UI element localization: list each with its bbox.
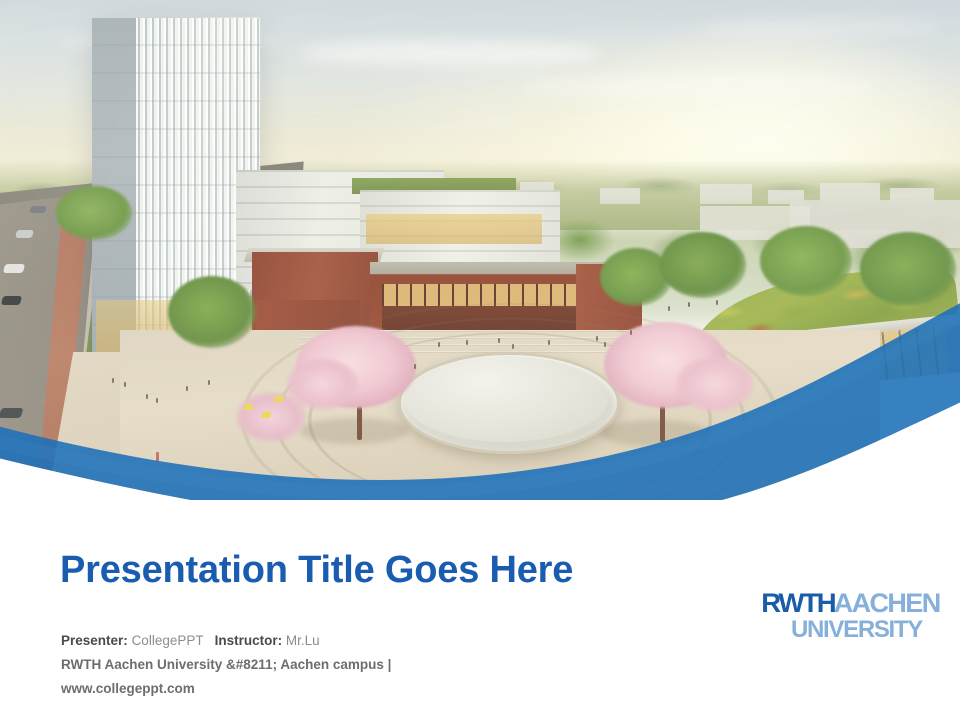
presentation-slide: Presentation Title Goes Here Presenter: …	[0, 0, 960, 720]
rwth-aachen-university-logo: RWTHAACHEN UNIVERSITY	[762, 590, 922, 642]
logo-row-primary: RWTHAACHEN	[762, 590, 922, 617]
presenter-value: CollegePPT	[132, 633, 204, 648]
hero-campus-photo	[0, 0, 960, 500]
logo-aachen-text: AACHEN	[834, 590, 940, 617]
logo-university-text: UNIVERSITY	[762, 618, 922, 642]
campus-illustration	[0, 0, 960, 500]
affiliation-line: RWTH Aachen University &#8211; Aachen ca…	[61, 654, 391, 675]
slide-byline: Presenter: CollegePPT Instructor: Mr.Lu …	[61, 630, 391, 699]
website-line: www.collegeppt.com	[61, 678, 391, 699]
photo-warm-overlay	[0, 0, 960, 500]
logo-rwth-text: RWTH	[761, 590, 834, 617]
instructor-label: Instructor:	[215, 633, 283, 648]
presenter-label: Presenter:	[61, 633, 128, 648]
page-title: Presentation Title Goes Here	[60, 549, 573, 592]
instructor-value: Mr.Lu	[286, 633, 320, 648]
